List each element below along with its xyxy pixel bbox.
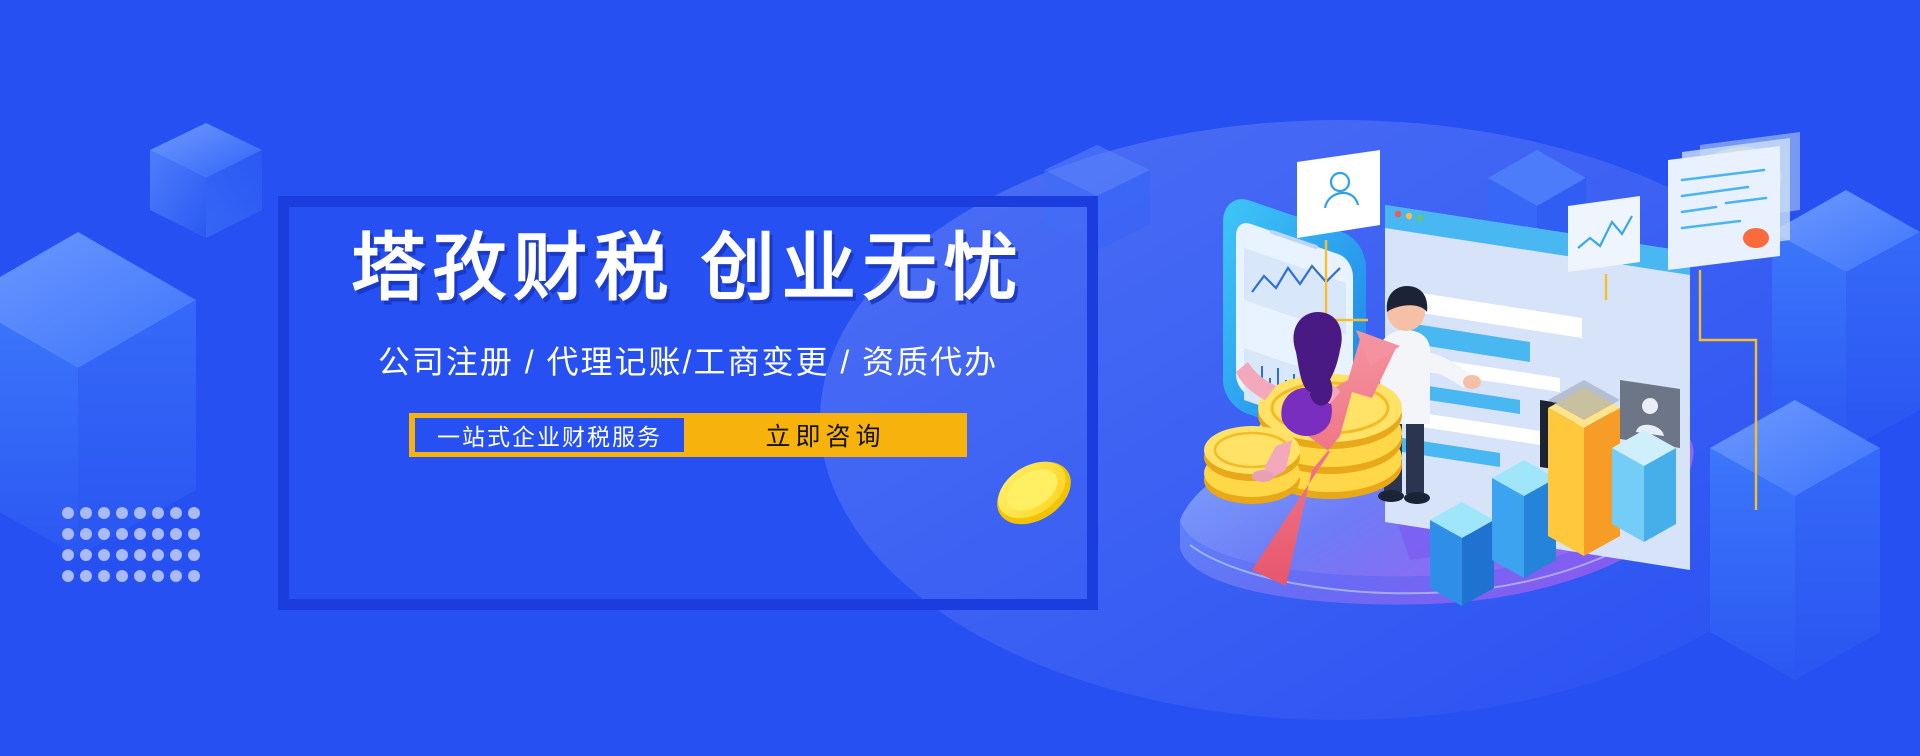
dot xyxy=(152,549,164,561)
dot xyxy=(188,570,200,582)
dot xyxy=(170,549,182,561)
dot xyxy=(62,570,74,582)
dot xyxy=(170,570,182,582)
dot xyxy=(134,570,146,582)
profile-card xyxy=(1297,150,1380,238)
dot xyxy=(116,549,128,561)
promotional-banner: 塔孜财税 创业无忧 公司注册 / 代理记账/工商变更 / 资质代办 一站式企业财… xyxy=(0,0,1920,756)
dot xyxy=(62,507,74,519)
banner-copy: 塔孜财税 创业无忧 公司注册 / 代理记账/工商变更 / 资质代办 一站式企业财… xyxy=(278,196,1098,610)
page-title: 塔孜财税 创业无忧 xyxy=(351,230,1025,310)
dot xyxy=(80,570,92,582)
line-chart-card xyxy=(1568,196,1640,272)
cta-tag-label: 一站式企业财税服务 xyxy=(415,418,684,452)
dot xyxy=(134,528,146,540)
dot xyxy=(152,570,164,582)
dot xyxy=(152,507,164,519)
dot xyxy=(80,549,92,561)
dot xyxy=(80,528,92,540)
dot xyxy=(116,507,128,519)
dot xyxy=(152,528,164,540)
dot xyxy=(98,507,110,519)
dot xyxy=(62,549,74,561)
dot xyxy=(188,528,200,540)
dot xyxy=(98,570,110,582)
dot xyxy=(170,507,182,519)
dot xyxy=(80,507,92,519)
dot xyxy=(62,528,74,540)
consult-now-button[interactable]: 立即咨询 xyxy=(684,417,967,453)
dot xyxy=(116,528,128,540)
dot-grid-decoration xyxy=(62,507,206,591)
dot xyxy=(170,528,182,540)
tower-right-lower xyxy=(1710,400,1880,680)
dot xyxy=(98,549,110,561)
dot xyxy=(98,528,110,540)
cta-bar[interactable]: 一站式企业财税服务 立即咨询 xyxy=(409,413,967,457)
dot xyxy=(188,507,200,519)
dot xyxy=(116,570,128,582)
services-subtitle: 公司注册 / 代理记账/工商变更 / 资质代办 xyxy=(378,337,998,383)
dot xyxy=(134,507,146,519)
dot xyxy=(134,549,146,561)
dot xyxy=(188,549,200,561)
